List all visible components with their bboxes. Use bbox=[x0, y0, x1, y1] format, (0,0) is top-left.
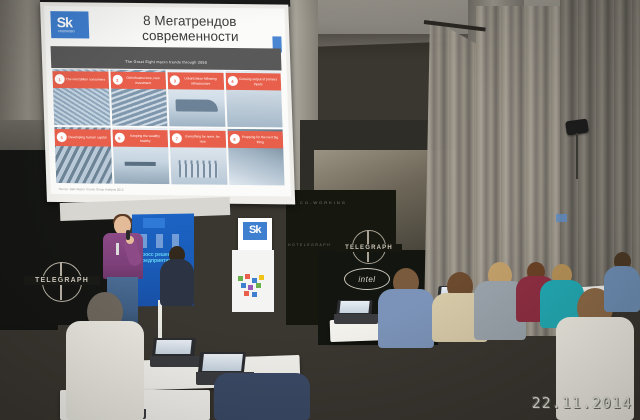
sk-vertical-banner bbox=[232, 250, 274, 312]
rollup-logo-icon bbox=[143, 218, 165, 228]
grid-cell: Developing human capital 5 bbox=[54, 127, 112, 184]
man-dark-blue-foreground bbox=[214, 338, 310, 420]
person-torso bbox=[604, 266, 640, 312]
glass-lettering: CO-WORKING bbox=[300, 200, 396, 205]
telegraph-sign-center: TELEGRAPH bbox=[336, 232, 402, 266]
slide: Sk сколково 8 Мегатрендов современности … bbox=[44, 6, 291, 196]
grid-cell: Growing output of primary inputs 4 bbox=[225, 71, 283, 128]
slide-sk-logo: Sk сколково bbox=[50, 11, 89, 38]
man-blue-check-back bbox=[604, 252, 640, 312]
grid-caption-number: 2 bbox=[112, 75, 122, 85]
grid-caption-number: 3 bbox=[170, 75, 180, 85]
laptop-lid bbox=[152, 338, 196, 357]
grid-caption-number: 4 bbox=[227, 76, 237, 86]
laptop-base bbox=[334, 314, 378, 323]
sk-sign: Sk bbox=[238, 218, 272, 252]
laptop-mid-right bbox=[334, 300, 378, 324]
man-plaid-shirt bbox=[378, 268, 434, 348]
slide-source-note: Source: Bain Macro Trends Group Analysis… bbox=[58, 187, 123, 192]
slide-grid: The next billion consumers 1 Old infrast… bbox=[52, 69, 284, 185]
camera-date-stamp: 22.11.2014 bbox=[532, 394, 632, 412]
sk-sign-mark: Sk bbox=[249, 224, 260, 236]
grid-caption-number: 5 bbox=[57, 132, 67, 142]
laptop-screen bbox=[339, 301, 370, 313]
grid-caption-number: 7 bbox=[172, 133, 182, 143]
loudspeaker-cable bbox=[576, 133, 578, 179]
projection-screen: Sk сколково 8 Мегатрендов современности … bbox=[40, 2, 295, 210]
microphone-icon bbox=[126, 230, 130, 240]
grid-cell: Urbanization following infrastructure 3 bbox=[167, 70, 225, 127]
person-torso bbox=[160, 259, 194, 306]
man-back-row-left bbox=[160, 246, 194, 306]
grid-cell: Keeping the wealthy healthy 6 bbox=[112, 128, 170, 185]
grid-cell: Everything for none, for now 7 bbox=[169, 128, 227, 185]
grid-cell: Prepping for the next big thing 8 bbox=[227, 129, 285, 186]
wall-sensor bbox=[556, 214, 567, 222]
grid-caption-number: 1 bbox=[55, 74, 65, 84]
slide-banner: The Great Eight macro trends through 205… bbox=[51, 46, 282, 70]
laptop-base bbox=[150, 356, 202, 367]
conference-photo: Sk сколково 8 Мегатрендов современности … bbox=[0, 0, 640, 420]
glass-lettering-small: HOTELEGRAPH bbox=[288, 243, 358, 247]
person-torso bbox=[378, 289, 434, 348]
person-torso bbox=[214, 373, 310, 420]
laptop-lid bbox=[336, 300, 373, 315]
telegraph-sign-left-text: TELEGRAPH bbox=[24, 276, 100, 285]
presenter-badge-lanyard bbox=[116, 243, 119, 255]
slide-banner-text: The Great Eight macro trends through 205… bbox=[51, 59, 281, 65]
laptop-left-table bbox=[150, 338, 202, 368]
slide-title: 8 Мегатрендов современности bbox=[104, 13, 275, 45]
person-torso bbox=[66, 321, 144, 420]
laptop-screen bbox=[156, 340, 192, 355]
grid-cell: Old infrastructure, new investment 2 bbox=[110, 70, 168, 127]
sk-logo-subtext: сколково bbox=[58, 28, 75, 33]
man-white-sweater-glasses bbox=[66, 292, 144, 420]
grid-caption-number: 8 bbox=[229, 134, 239, 144]
grid-cell: The next billion consumers 1 bbox=[52, 69, 110, 126]
grid-caption-number: 6 bbox=[114, 133, 124, 143]
